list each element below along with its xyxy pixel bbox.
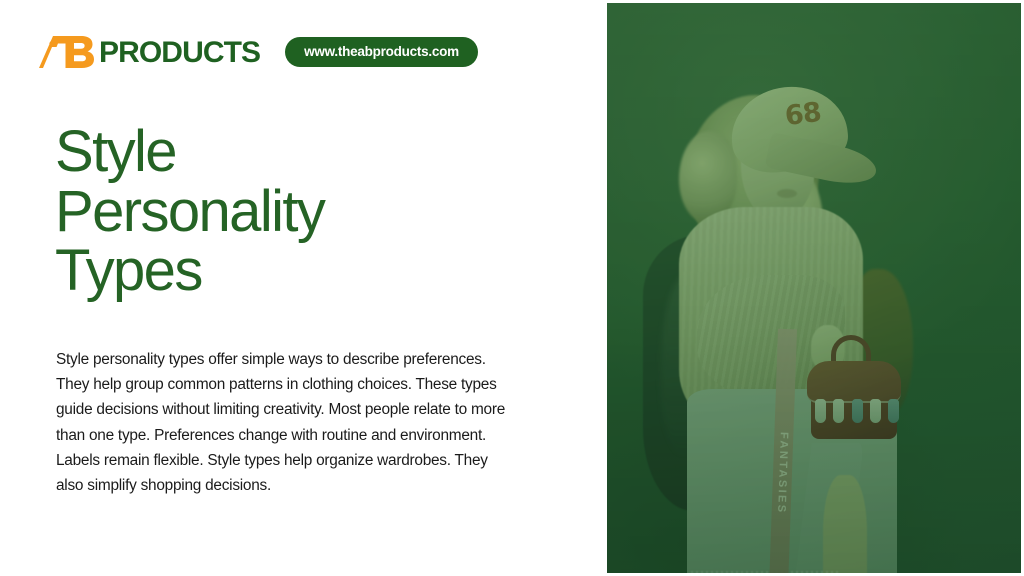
- content-pane: PRODUCTS www.theabproducts.com Style Per…: [0, 0, 607, 576]
- title-line-1: Style: [55, 122, 535, 182]
- handbag-flap: [807, 361, 901, 403]
- bag-tassels: [815, 399, 899, 425]
- website-url-pill[interactable]: www.theabproducts.com: [285, 37, 478, 68]
- title-line-2: Personality: [55, 182, 535, 242]
- tassel: [888, 399, 899, 423]
- model-figure: 68 FANTASIES: [635, 39, 975, 573]
- strap-text-label: FANTASIES: [775, 432, 790, 515]
- tassel: [833, 399, 844, 423]
- tassel: [852, 399, 863, 423]
- leg-shape: [823, 475, 867, 573]
- logo-lockup[interactable]: PRODUCTS: [36, 32, 260, 72]
- tassel: [815, 399, 826, 423]
- tassel: [870, 399, 881, 423]
- logo-wordmark: PRODUCTS: [99, 38, 260, 68]
- slide-canvas: PRODUCTS www.theabproducts.com Style Per…: [0, 0, 1024, 576]
- body-paragraph: Style personality types offer simple way…: [56, 347, 516, 498]
- hero-image-pane: 68 FANTASIES: [607, 3, 1021, 573]
- brand-header: PRODUCTS www.theabproducts.com: [36, 32, 478, 72]
- skirt-hem-fray: [691, 571, 841, 573]
- lips-shape: [777, 189, 797, 198]
- duotone-photo: 68 FANTASIES: [607, 3, 1021, 573]
- cap-number-label: 68: [783, 97, 822, 132]
- title-line-3: Types: [55, 241, 535, 301]
- page-title: Style Personality Types: [55, 122, 535, 301]
- ab-logo-icon: [36, 35, 98, 69]
